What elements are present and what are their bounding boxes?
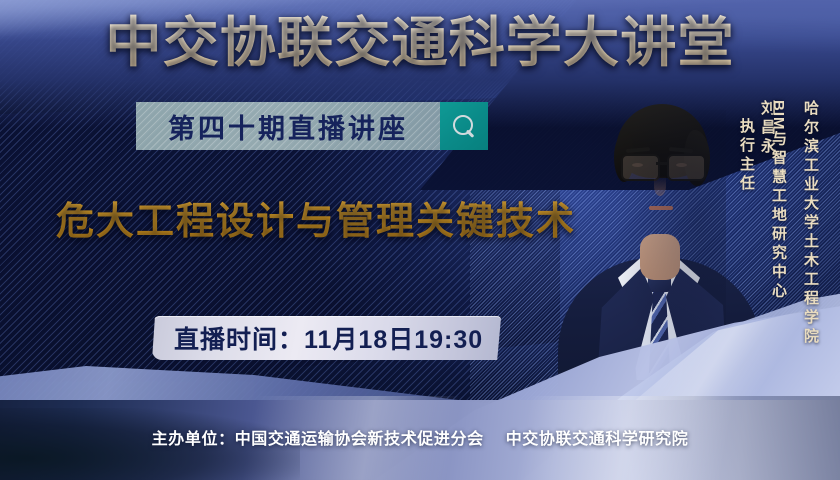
search-button[interactable] xyxy=(440,102,488,150)
portrait-neck xyxy=(640,234,680,280)
speaker-center-column: BIM与智慧工地研究中心 xyxy=(768,100,791,302)
organizer-label: 主办单位： xyxy=(152,431,235,448)
live-lecture-poster: 中交协联交通科学大讲堂 第四十期直播讲座 危大工程设计与管理关键技术 直播时间：… xyxy=(0,0,840,480)
search-icon-handle xyxy=(466,129,474,137)
search-icon xyxy=(453,115,476,138)
speaker-college-column: 哈尔滨工业大学土木工程学院 xyxy=(800,100,821,347)
live-time-text: 直播时间：11月18日19:30 xyxy=(174,320,483,356)
portrait-nose xyxy=(654,176,666,196)
glasses-lens-right xyxy=(667,154,706,181)
page-title: 中交协联交通科学大讲堂 xyxy=(0,14,840,73)
organizers-footer: 主办单位：中国交通运输协会新技术促进分会中交协联交通科学研究院 xyxy=(0,425,840,449)
subtitle-plate: 第四十期直播讲座 xyxy=(136,102,440,150)
speaker-role: 执行主任 xyxy=(736,118,757,194)
speaker-center-name: 与智慧工地研究中心 xyxy=(770,131,787,302)
speaker-center-latin: BIM xyxy=(770,100,787,131)
glasses-icon xyxy=(618,154,706,178)
organizer-primary: 中国交通运输协会新技术促进分会 xyxy=(235,431,484,448)
subtitle-banner: 第四十期直播讲座 xyxy=(136,102,488,150)
lecture-topic-headline: 危大工程设计与管理关键技术 xyxy=(56,190,576,245)
portrait-mouth xyxy=(649,206,673,210)
live-time-badge: 直播时间：11月18日19:30 xyxy=(152,316,501,360)
subtitle-label: 第四十期直播讲座 xyxy=(168,107,408,146)
organizer-secondary: 中交协联交通科学研究院 xyxy=(506,431,689,448)
